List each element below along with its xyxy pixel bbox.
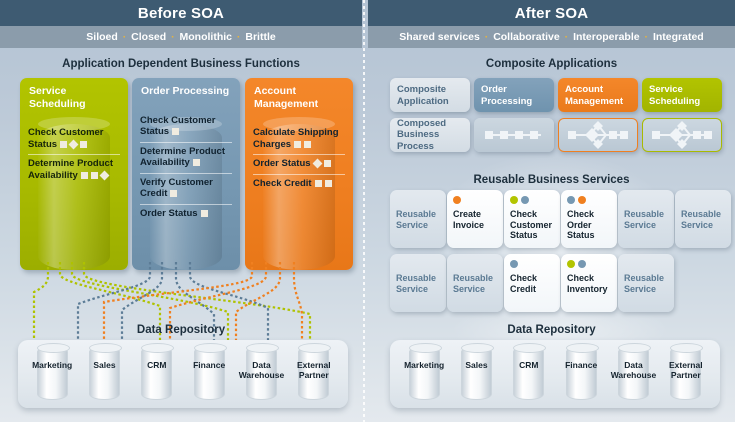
consumer-dot-icon	[510, 196, 518, 204]
cylinder-icon	[141, 346, 172, 400]
square-marker-icon	[315, 180, 322, 187]
silo-item-list: Calculate Shipping ChargesOrder StatusCh…	[245, 124, 353, 193]
before-soa-header: Before SOA	[0, 0, 362, 26]
database-label: Marketing	[24, 360, 81, 370]
service-label: Check Inventory	[567, 273, 612, 294]
database-label: CRM	[128, 360, 185, 370]
reusable-service-named[interactable]: Check Inventory	[561, 254, 617, 312]
panel-divider	[363, 0, 365, 422]
square-marker-icon	[294, 141, 301, 148]
database-label: Marketing	[396, 360, 453, 370]
silo-function-label: Check Credit	[253, 178, 312, 189]
consumer-dot-icon	[578, 196, 586, 204]
diamond-marker-icon	[312, 159, 322, 169]
database-cylinder[interactable]: Data Warehouse	[238, 344, 285, 404]
service-dot-group	[567, 260, 612, 270]
reusable-service-named[interactable]: Create Invoice	[447, 190, 503, 248]
composite-app-label: Order Processing	[481, 84, 532, 107]
silo-item-list: Check Customer StatusDetermine Product A…	[132, 112, 240, 224]
silo-function-item[interactable]: Determine Product Availability	[140, 143, 232, 174]
database-cylinder[interactable]: External Partner	[662, 344, 709, 404]
service-label: Check Order Status	[567, 209, 612, 241]
consumer-dot-icon	[510, 260, 518, 268]
reusable-service-named[interactable]: Check Order Status	[561, 190, 617, 248]
silo-function-item[interactable]: Check Customer Status	[140, 112, 232, 143]
silo-function-item[interactable]: Order Status	[253, 155, 345, 175]
service-dot-group	[453, 260, 498, 270]
right-repo-title: Data Repository	[368, 324, 735, 336]
reusable-service-placeholder[interactable]: Reusable Service	[447, 254, 503, 312]
silo-function-item[interactable]: Determine Product Availability	[28, 155, 120, 185]
silo-green[interactable]: Service SchedulingCheck Customer StatusD…	[20, 78, 128, 270]
reusable-service-placeholder[interactable]: Reusable Service	[618, 190, 674, 248]
database-label: Finance	[553, 360, 610, 370]
square-marker-icon	[304, 141, 311, 148]
linear-flow-icon	[481, 120, 547, 150]
subtitle-separator: ·	[640, 31, 653, 43]
database-label: Data Warehouse	[233, 360, 290, 380]
database-label: Sales	[448, 360, 505, 370]
consumer-dot-icon	[567, 260, 575, 268]
service-dot-group	[624, 196, 669, 206]
service-label: Check Credit	[510, 273, 555, 294]
composite-app-label: Composite Application	[397, 84, 449, 107]
database-cylinder[interactable]: Sales	[453, 344, 500, 404]
database-label: Sales	[76, 360, 133, 370]
cylinder-icon	[566, 346, 597, 400]
square-marker-icon	[170, 190, 177, 197]
left-repo-title: Data Repository	[0, 324, 362, 336]
service-label: Check Customer Status	[510, 209, 555, 241]
reusable-services-title: Reusable Business Services	[368, 174, 735, 186]
subtitle-separator: ·	[166, 31, 179, 43]
silo-function-label: Order Status	[140, 208, 198, 219]
right-data-repository: MarketingSalesCRMFinanceData WarehouseEx…	[390, 340, 720, 408]
cylinder-icon	[409, 346, 440, 400]
database-cylinder[interactable]: External Partner	[290, 344, 337, 404]
service-label: Reusable Service	[624, 273, 669, 294]
service-label: Reusable Service	[396, 273, 441, 294]
after-soa-subtitle: Shared services · Collaborative · Intero…	[399, 31, 703, 43]
database-label: Data Warehouse	[605, 360, 662, 380]
silo-function-item[interactable]: Calculate Shipping Charges	[253, 124, 345, 155]
silo-function-label: Order Status	[253, 158, 311, 169]
square-marker-icon	[60, 141, 67, 148]
database-cylinder[interactable]: Marketing	[29, 344, 76, 404]
left-data-repository: MarketingSalesCRMFinanceData WarehouseEx…	[18, 340, 348, 408]
reusable-service-placeholder[interactable]: Reusable Service	[618, 254, 674, 312]
silo-title: Account Management	[245, 78, 353, 110]
subtitle-term: Brittle	[245, 31, 275, 43]
subtitle-term: Interoperable	[573, 31, 640, 43]
reusable-service-placeholder[interactable]: Reusable Service	[675, 190, 731, 248]
service-dot-group	[681, 196, 726, 206]
service-label: Reusable Service	[681, 209, 726, 230]
square-marker-icon	[325, 180, 332, 187]
database-cylinder[interactable]: CRM	[505, 344, 552, 404]
after-soa-title: After SOA	[515, 5, 588, 22]
square-marker-icon	[172, 128, 179, 135]
silo-item-list: Check Customer StatusDetermine Product A…	[20, 124, 128, 185]
service-label: Reusable Service	[396, 209, 441, 230]
database-cylinder[interactable]: Finance	[186, 344, 233, 404]
process-flow-tile[interactable]	[474, 118, 554, 152]
subtitle-separator: ·	[480, 31, 493, 43]
after-soa-header: After SOA	[368, 0, 735, 26]
database-cylinder[interactable]: Finance	[558, 344, 605, 404]
consumer-dot-icon	[567, 196, 575, 204]
composite-applications-title: Composite Applications	[368, 58, 735, 70]
service-dot-group	[624, 260, 669, 270]
silo-orange[interactable]: Account ManagementCalculate Shipping Cha…	[245, 78, 353, 270]
before-soa-title: Before SOA	[138, 5, 224, 22]
database-label: CRM	[500, 360, 557, 370]
after-soa-subtitle-band: Shared services · Collaborative · Intero…	[368, 26, 735, 48]
consumer-dot-icon	[578, 260, 586, 268]
diamond-flow-icon	[565, 120, 631, 150]
database-label: External Partner	[657, 360, 714, 380]
subtitle-term: Siloed	[86, 31, 118, 43]
silo-function-item[interactable]: Check Customer Status	[28, 124, 120, 155]
service-dot-group	[396, 260, 441, 270]
service-label: Reusable Service	[453, 273, 498, 294]
service-label: Create Invoice	[453, 209, 498, 230]
service-dot-group	[510, 260, 555, 270]
silo-title: Service Scheduling	[20, 78, 128, 110]
square-marker-icon	[193, 159, 200, 166]
square-marker-icon	[91, 172, 98, 179]
database-cylinder[interactable]: CRM	[133, 344, 180, 404]
subtitle-term: Collaborative	[493, 31, 560, 43]
consumer-dot-icon	[453, 196, 461, 204]
composite-app-orange[interactable]: Account Management	[558, 78, 638, 112]
subtitle-term: Shared services	[399, 31, 480, 43]
silo-function-item[interactable]: Verify Customer Credit	[140, 174, 232, 205]
cylinder-icon	[37, 346, 68, 400]
cylinder-icon	[89, 346, 120, 400]
cylinder-icon	[194, 346, 225, 400]
subtitle-term: Closed	[131, 31, 166, 43]
diamond-flow-icon	[649, 120, 715, 150]
service-dot-group	[567, 196, 612, 206]
reusable-service-named[interactable]: Check Credit	[504, 254, 560, 312]
before-soa-subtitle: Siloed · Closed · Monolithic · Brittle	[86, 31, 275, 43]
database-cylinder[interactable]: Marketing	[401, 344, 448, 404]
composite-app-blue[interactable]: Order Processing	[474, 78, 554, 112]
composed-business-process[interactable]: Composed Business Process	[390, 118, 470, 152]
reusable-service-named[interactable]: Check Customer Status	[504, 190, 560, 248]
reusable-service-placeholder[interactable]: Reusable Service	[390, 190, 446, 248]
process-flow-tile[interactable]	[642, 118, 722, 152]
service-dot-group	[453, 196, 498, 206]
consumer-dot-icon	[521, 196, 529, 204]
subtitle-separator: ·	[232, 31, 245, 43]
reusable-service-placeholder[interactable]: Reusable Service	[390, 254, 446, 312]
square-marker-icon	[80, 141, 87, 148]
composite-app-label: Service Scheduling	[649, 84, 700, 107]
database-label: External Partner	[285, 360, 342, 380]
database-cylinder[interactable]: Data Warehouse	[610, 344, 657, 404]
diamond-marker-icon	[99, 170, 109, 180]
silo-blue[interactable]: Order ProcessingCheck Customer StatusDet…	[132, 78, 240, 270]
subtitle-separator: ·	[560, 31, 573, 43]
soa-comparison-diagram: Before SOA After SOA Siloed · Closed · M…	[0, 0, 735, 422]
database-label: Finance	[181, 360, 238, 370]
cylinder-icon	[461, 346, 492, 400]
silo-function-item[interactable]: Check Credit	[253, 175, 345, 194]
subtitle-separator: ·	[118, 31, 131, 43]
silo-function-item[interactable]: Order Status	[140, 205, 232, 224]
before-soa-subtitle-band: Siloed · Closed · Monolithic · Brittle	[0, 26, 362, 48]
database-cylinder[interactable]: Sales	[81, 344, 128, 404]
composite-app-grey[interactable]: Composite Application	[390, 78, 470, 112]
service-dot-group	[510, 196, 555, 206]
square-marker-icon	[81, 172, 88, 179]
square-marker-icon	[201, 210, 208, 217]
application-functions-title: Application Dependent Business Functions	[0, 58, 362, 70]
process-flow-tile[interactable]	[558, 118, 638, 152]
cylinder-icon	[513, 346, 544, 400]
composite-app-label: Account Management	[565, 84, 623, 107]
silo-title: Order Processing	[132, 78, 240, 98]
diamond-marker-icon	[69, 139, 79, 149]
service-label: Reusable Service	[624, 209, 669, 230]
silo-function-label: Determine Product Availability	[140, 146, 225, 169]
subtitle-term: Monolithic	[180, 31, 233, 43]
composed-process-label: Composed Business Process	[397, 118, 463, 153]
square-marker-icon	[324, 160, 331, 167]
service-dot-group	[396, 196, 441, 206]
composite-app-green[interactable]: Service Scheduling	[642, 78, 722, 112]
subtitle-term: Integrated	[653, 31, 704, 43]
